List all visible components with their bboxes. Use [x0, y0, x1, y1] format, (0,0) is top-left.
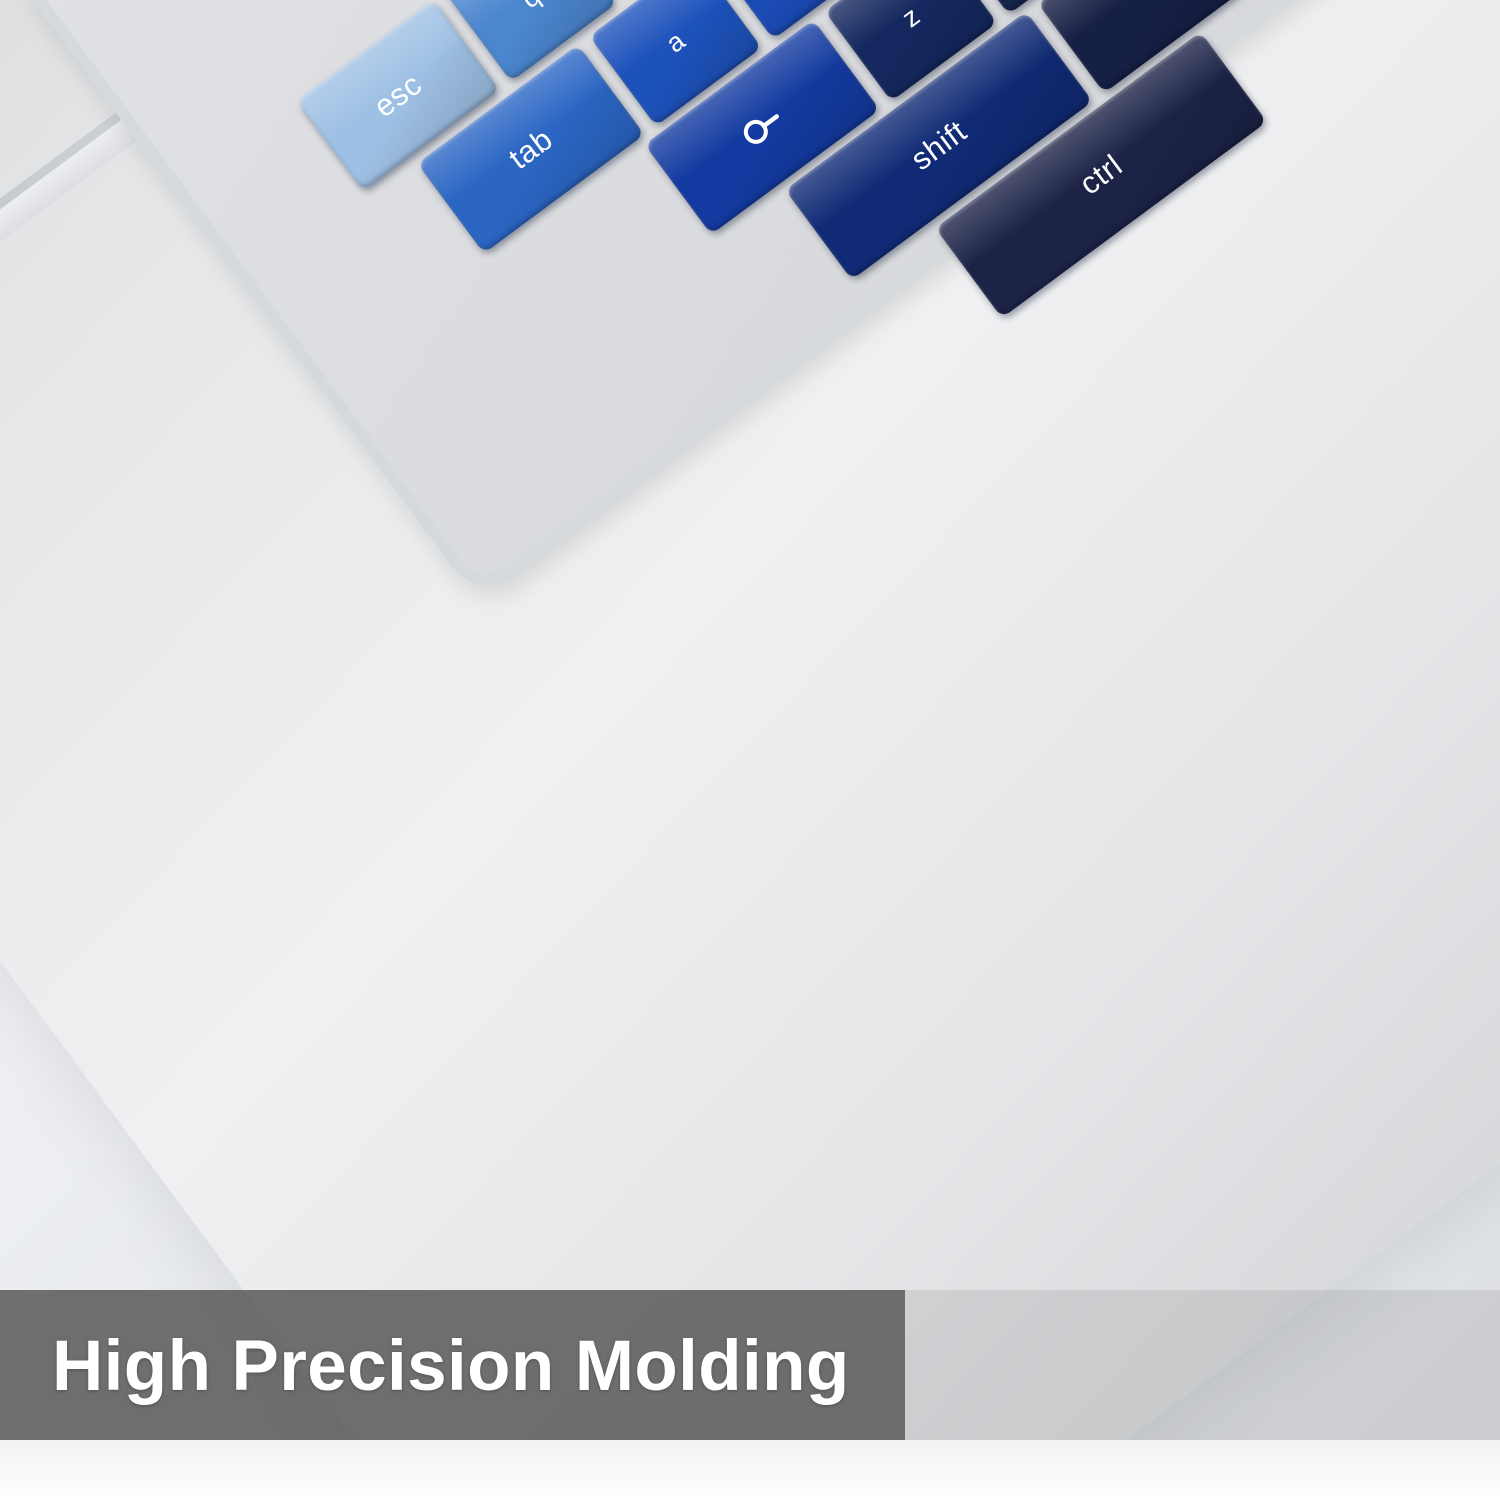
key-esc-label: esc	[367, 66, 429, 125]
product-photo: ↙↗↻~`!1@2#3$4%5^6escqwertyutabasdfghzxcv…	[0, 0, 1500, 1500]
key-z-label: z	[896, 1, 926, 34]
key-tab-label: tab	[502, 121, 560, 177]
key-ctrl-label: ctrl	[1073, 147, 1130, 202]
caption-text: High Precision Molding	[52, 1318, 892, 1414]
key-a-label: a	[660, 25, 691, 59]
bottom-fade	[0, 1440, 1500, 1500]
caption-banner-shadow	[905, 1290, 1500, 1440]
key-shift-label: shift	[904, 113, 974, 178]
key-q-label: q	[515, 0, 546, 14]
search-icon	[735, 101, 790, 152]
